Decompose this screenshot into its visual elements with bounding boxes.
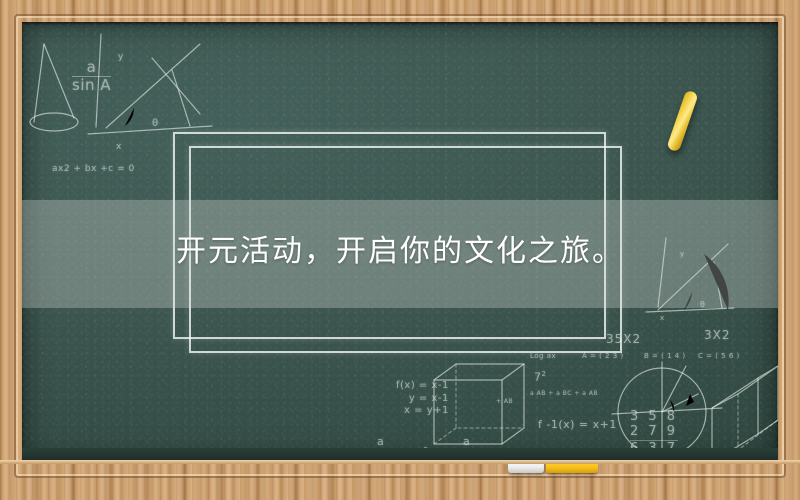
seven-squared-text: 72 xyxy=(534,370,546,384)
log-ax-text: Log ax xyxy=(530,352,556,360)
function-line-1: f(x) = x-1 xyxy=(396,380,449,393)
axes-angle-topleft xyxy=(88,34,212,134)
angle-label-right: θ xyxy=(700,300,705,309)
function-line-2: y = x-1 xyxy=(396,393,449,406)
quadratic-equation-text: ax2 + bx +c = 0 xyxy=(52,164,135,174)
matrix-label-3x2: 3X2 xyxy=(704,328,731,342)
chalkboard-banner: a sin A ax2 + bx +c = 0 y x θ y x θ f(x)… xyxy=(0,0,800,500)
shelf-highlight xyxy=(0,460,800,464)
matrix-b-text: B = ( 1 4 ) xyxy=(644,352,686,360)
ab-bc-expression-text: a AB + a BC + a AB xyxy=(530,390,598,397)
circle-axes-drawing xyxy=(612,362,722,462)
headline-text: 开元活动，开启你的文化之旅。 xyxy=(22,226,778,270)
axis-label-y-topleft: y xyxy=(118,52,124,62)
matrix-c-text: C = ( 5 6 ) xyxy=(698,352,740,360)
axis-label-x-topleft: x xyxy=(116,142,122,152)
fraction-a-over-sina-topleft: a sin A xyxy=(72,60,111,94)
function-line-3: x = y+1 xyxy=(396,405,449,418)
matrix-a-text: A = ( 2 3 ) xyxy=(582,352,624,360)
inverse-function-text: f -1(x) = x+1 xyxy=(538,418,617,431)
cube-wireframe-center xyxy=(434,364,524,444)
angle-label-topleft: θ xyxy=(152,118,159,129)
chalkboard-surface: a sin A ax2 + bx +c = 0 y x θ y x θ f(x)… xyxy=(22,22,778,462)
subtraction-subtrahend: 2 7 9 xyxy=(630,425,678,440)
ab-expression-text: + AB xyxy=(496,398,513,405)
cone-drawing xyxy=(30,44,78,131)
function-equations-block: f(x) = x-1 y = x-1 x = y+1 xyxy=(396,380,449,418)
subtraction-minuend: 3 5 8 xyxy=(630,410,678,425)
yellow-chalk-stick[interactable] xyxy=(666,90,698,153)
axis-label-x-right: x xyxy=(660,314,665,322)
